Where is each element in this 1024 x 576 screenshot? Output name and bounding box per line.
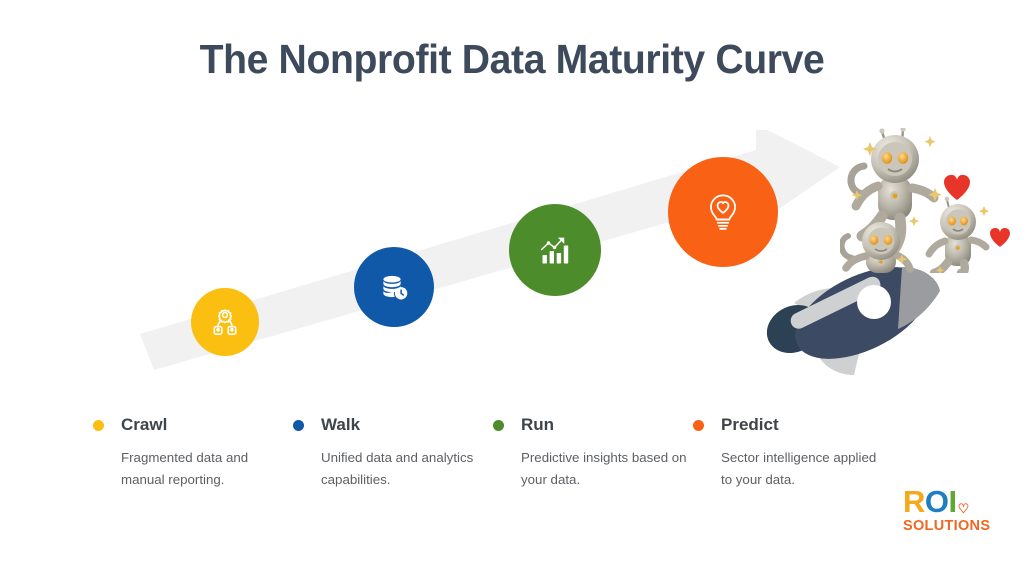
legend-description-crawl: Fragmented data and manual reporting. xyxy=(121,447,287,490)
legend-item-run[interactable]: Run Predictive insights based on your da… xyxy=(493,414,693,490)
bar-chart-growth-icon xyxy=(537,232,573,268)
legend-title-walk: Walk xyxy=(321,415,360,435)
heart-icon: ♡ xyxy=(958,502,969,515)
robot-astronauts-illustration xyxy=(840,128,1015,273)
infographic-canvas: The Nonprofit Data Maturity Curve xyxy=(0,0,1024,576)
legend-title-run: Run xyxy=(521,415,554,435)
stage-node-walk[interactable] xyxy=(354,247,434,327)
legend-dot-predict xyxy=(693,420,704,431)
stage-node-run[interactable] xyxy=(509,204,601,296)
logo-letter-i: I xyxy=(949,486,957,517)
page-title: The Nonprofit Data Maturity Curve xyxy=(23,36,1001,83)
legend-title-crawl: Crawl xyxy=(121,415,167,435)
logo-letter-r: R xyxy=(903,486,925,517)
gear-workflow-icon xyxy=(210,307,240,337)
legend-description-walk: Unified data and analytics capabilities. xyxy=(321,447,487,490)
logo-subtitle: SOLUTIONS xyxy=(903,518,1003,534)
lightbulb-heart-icon xyxy=(702,191,744,233)
legend-dot-crawl xyxy=(93,420,104,431)
stage-node-predict[interactable] xyxy=(668,157,778,267)
legend-item-crawl[interactable]: Crawl Fragmented data and manual reporti… xyxy=(93,414,293,490)
legend-description-run: Predictive insights based on your data. xyxy=(521,447,687,490)
database-clock-icon xyxy=(378,271,410,303)
stage-node-crawl[interactable] xyxy=(191,288,259,356)
legend-description-predict: Sector intelligence applied to your data… xyxy=(721,447,887,490)
roi-solutions-logo[interactable]: R O I ♡ SOLUTIONS xyxy=(903,486,1003,538)
logo-letter-o: O xyxy=(925,486,949,517)
stage-legend: Crawl Fragmented data and manual reporti… xyxy=(93,414,923,490)
legend-dot-walk xyxy=(293,420,304,431)
legend-dot-run xyxy=(493,420,504,431)
legend-title-predict: Predict xyxy=(721,415,779,435)
legend-item-walk[interactable]: Walk Unified data and analytics capabili… xyxy=(293,414,493,490)
legend-item-predict[interactable]: Predict Sector intelligence applied to y… xyxy=(693,414,893,490)
